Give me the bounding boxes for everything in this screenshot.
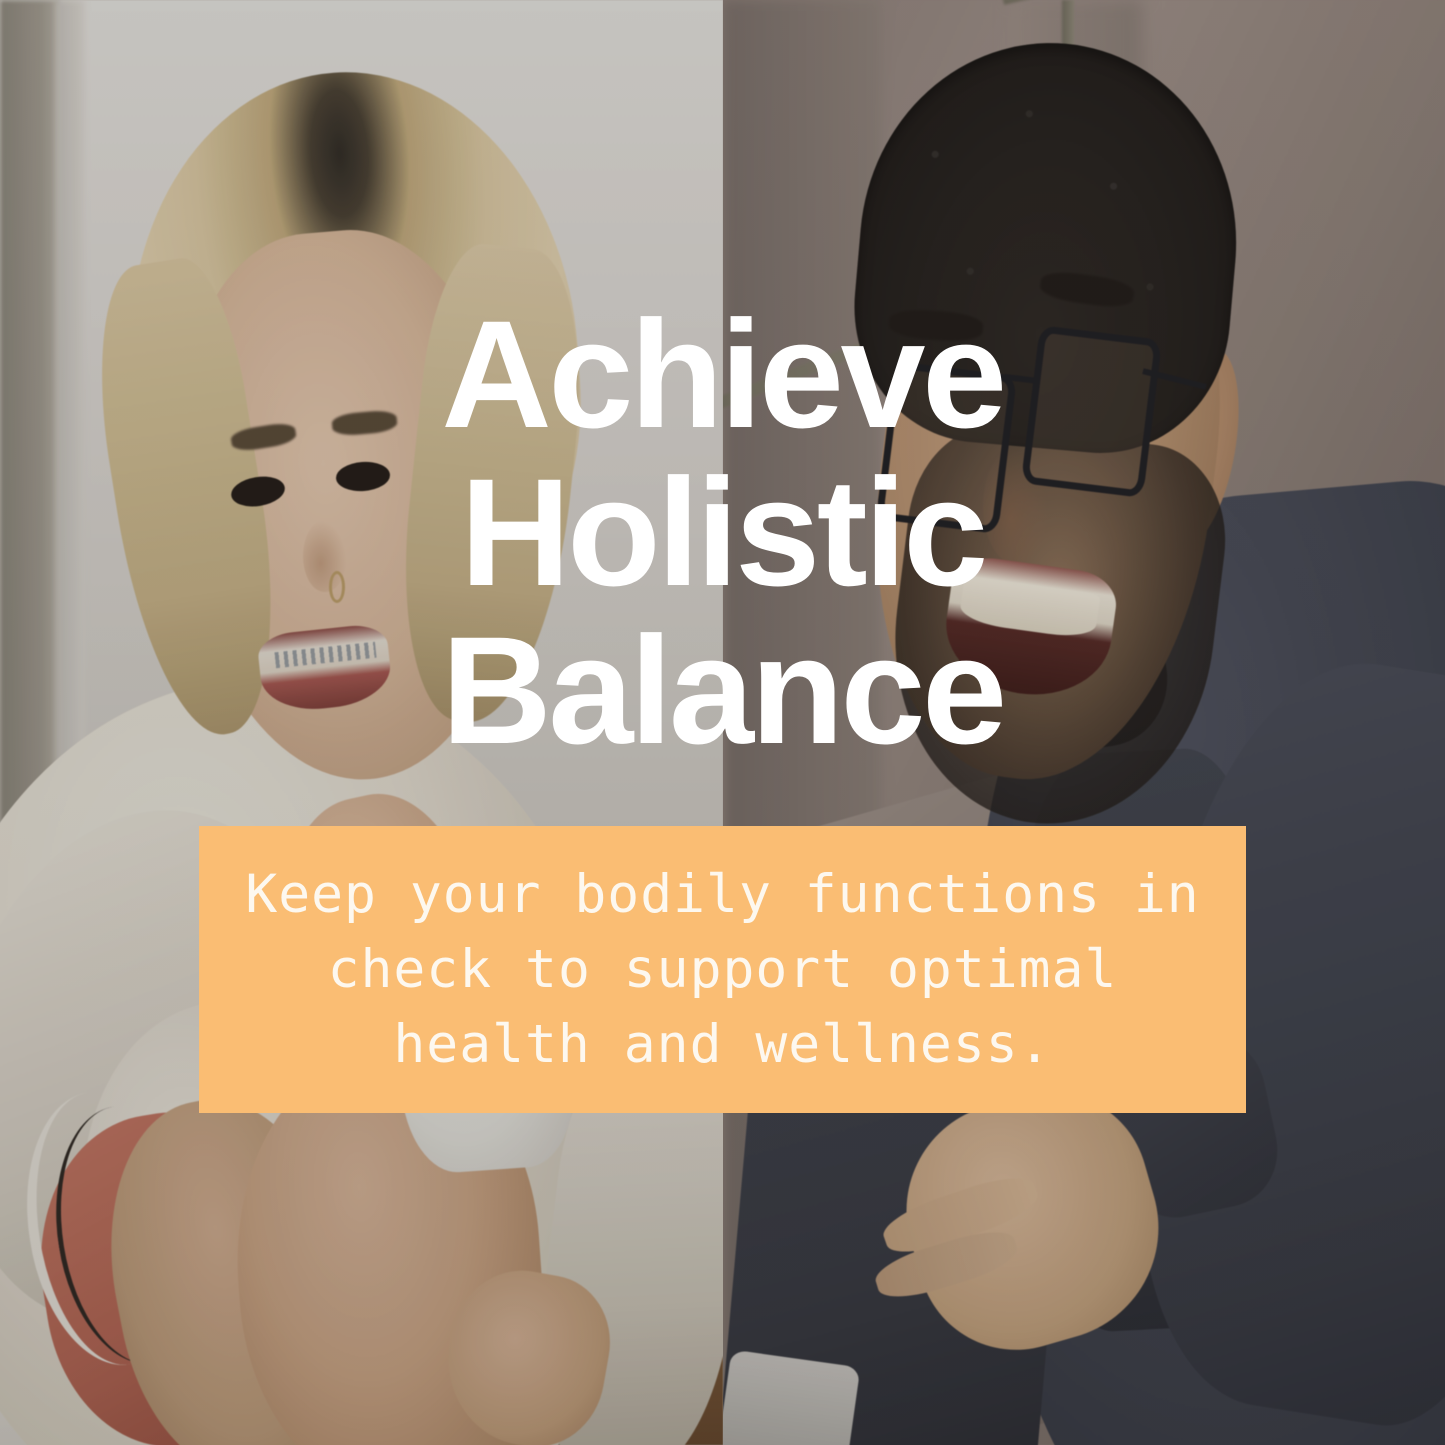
- right-subject-sock: [723, 1350, 860, 1445]
- subtitle-text: Keep your bodily functions in check to s…: [219, 857, 1225, 1082]
- poster-headline: Achieve Holistic Balance: [0, 296, 1445, 770]
- poster-canvas: Achieve Holistic Balance Keep your bodil…: [0, 0, 1445, 1445]
- subtitle-panel: Keep your bodily functions in check to s…: [199, 826, 1246, 1113]
